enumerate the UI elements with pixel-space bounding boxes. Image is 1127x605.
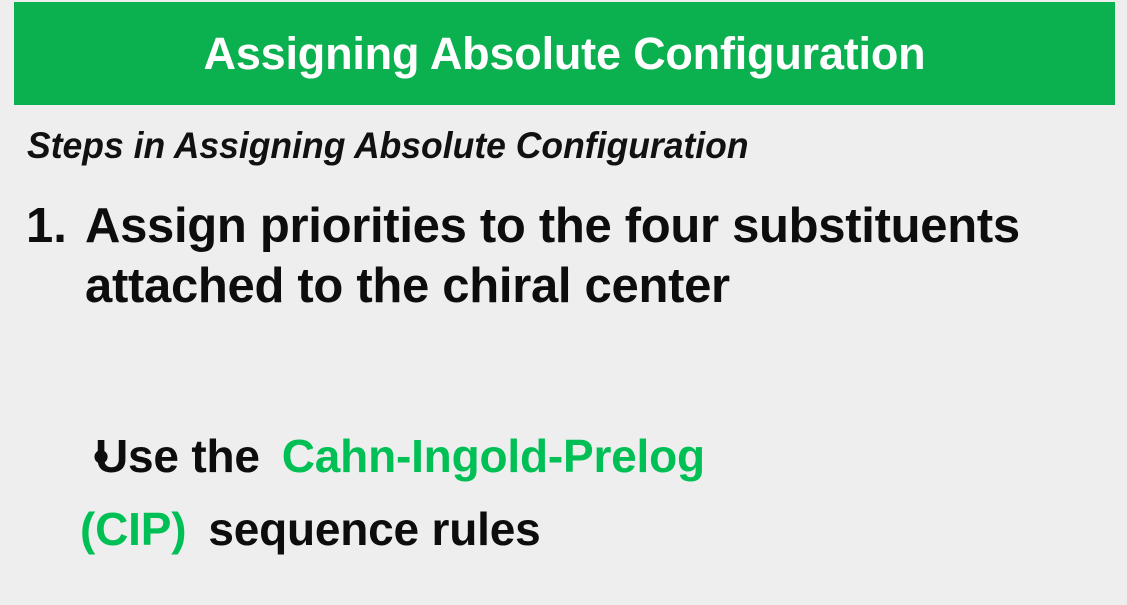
slide-canvas: Assigning Absolute Configuration Steps i… xyxy=(0,0,1127,605)
slide-body: Steps in Assigning Absolute Configuratio… xyxy=(0,105,1127,605)
list-item-text: Assign priorities to the four substituen… xyxy=(85,197,1109,317)
page-title: Assigning Absolute Configuration xyxy=(204,31,926,76)
bullet-dot-icon: • xyxy=(93,429,109,484)
numbered-list: 1. Assign priorities to the four substit… xyxy=(0,197,1127,317)
sub-bullet-trailing-text: sequence rules xyxy=(208,503,540,555)
sub-bullet-group: • Use theCahn-Ingold-Prelog (CIP)sequenc… xyxy=(0,429,1127,557)
cip-name-highlight: Cahn-Ingold-Prelog xyxy=(282,430,705,482)
sub-bullet-line-second: (CIP)sequence rules xyxy=(0,502,1127,557)
list-item: 1. Assign priorities to the four substit… xyxy=(0,197,1127,317)
subtitle-heading: Steps in Assigning Absolute Configuratio… xyxy=(27,127,749,164)
sub-bullet-line-first: • Use theCahn-Ingold-Prelog xyxy=(0,429,1127,484)
cip-abbreviation-highlight: (CIP) xyxy=(80,503,186,555)
list-item-marker: 1. xyxy=(26,197,67,257)
sub-bullet-lead-text: Use the xyxy=(95,430,260,482)
title-banner: Assigning Absolute Configuration xyxy=(14,2,1115,105)
